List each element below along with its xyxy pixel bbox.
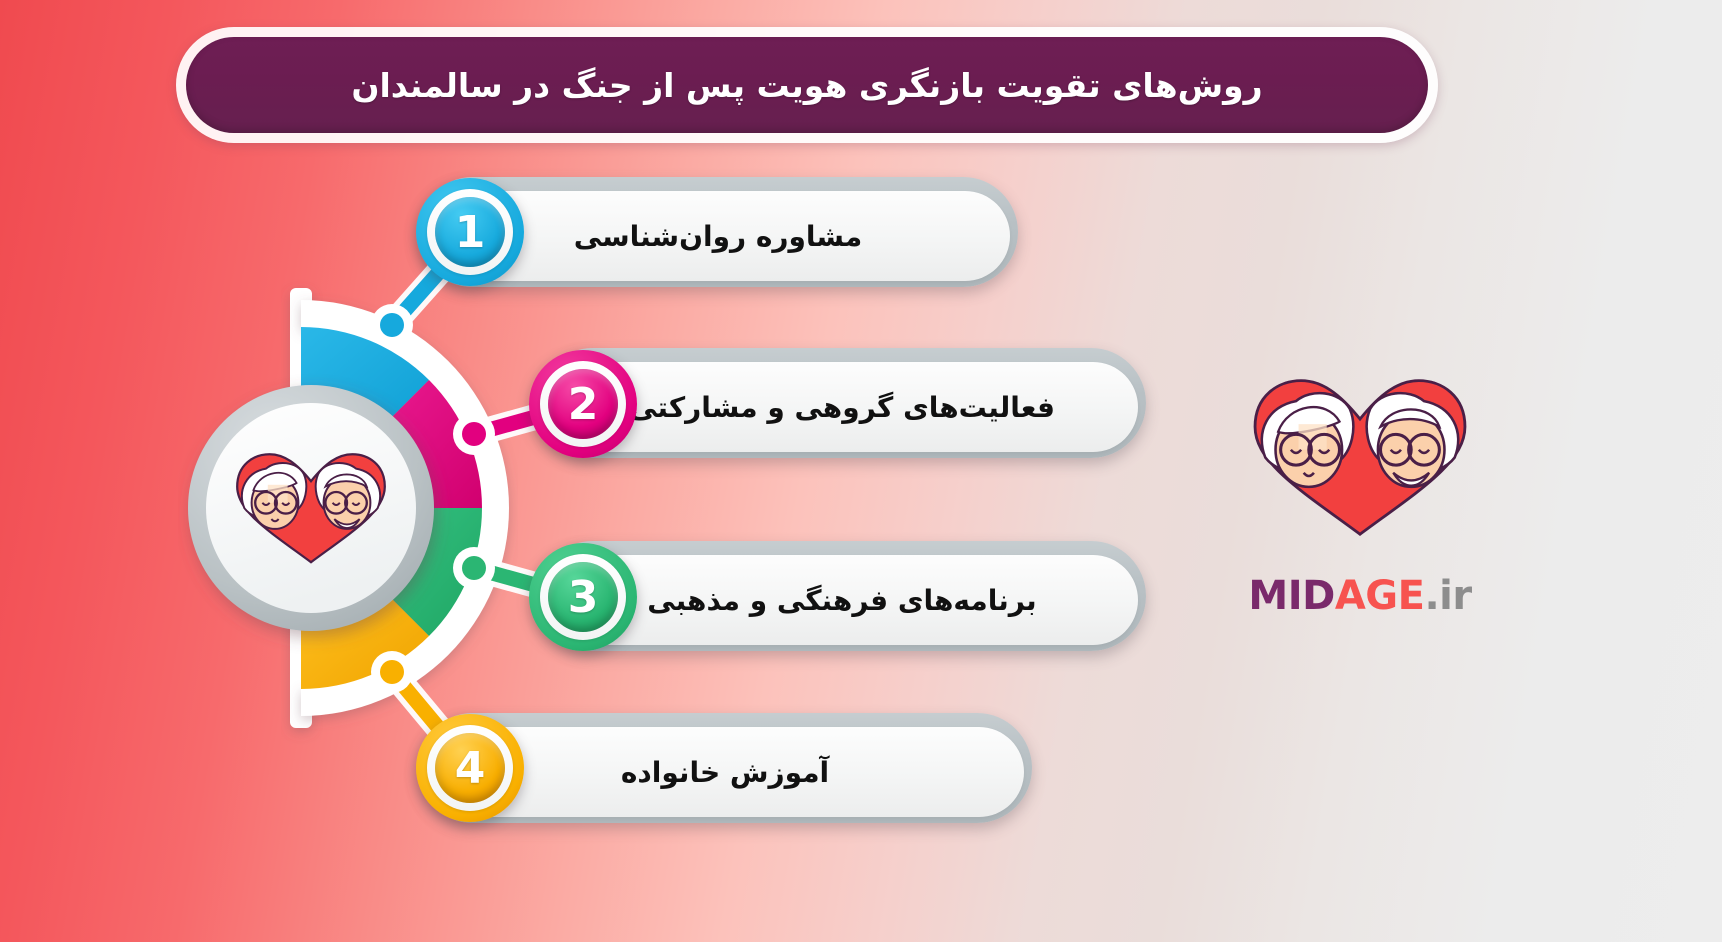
title-banner: روش‌های تقویت بازنگری هویت پس از جنگ در …: [176, 27, 1438, 143]
title-banner-fill: روش‌های تقویت بازنگری هویت پس از جنگ در …: [186, 37, 1428, 133]
badge-number-3: 3: [548, 562, 618, 632]
badge-number-2: 2: [548, 369, 618, 439]
badge-number-1: 1: [435, 197, 505, 267]
elderly-couple-heart-icon: [1210, 355, 1510, 575]
wordmark-mid: MID: [1248, 573, 1334, 619]
page-title: روش‌های تقویت بازنگری هویت پس از جنگ در …: [351, 66, 1262, 105]
wordmark-tld: .ir: [1424, 573, 1471, 619]
badge-number-4: 4: [435, 733, 505, 803]
wordmark-age: AGE: [1335, 573, 1425, 619]
step-badge-1[interactable]: 1: [416, 178, 524, 286]
infographic-canvas: روش‌های تقویت بازنگری هویت پس از جنگ در …: [0, 0, 1722, 942]
step-badge-2[interactable]: 2: [529, 350, 637, 458]
step-badge-4[interactable]: 4: [416, 714, 524, 822]
brand-wordmark: MIDAGE.ir: [1210, 573, 1510, 619]
brand-logo: MIDAGE.ir: [1210, 355, 1510, 655]
step-badge-3[interactable]: 3: [529, 543, 637, 651]
